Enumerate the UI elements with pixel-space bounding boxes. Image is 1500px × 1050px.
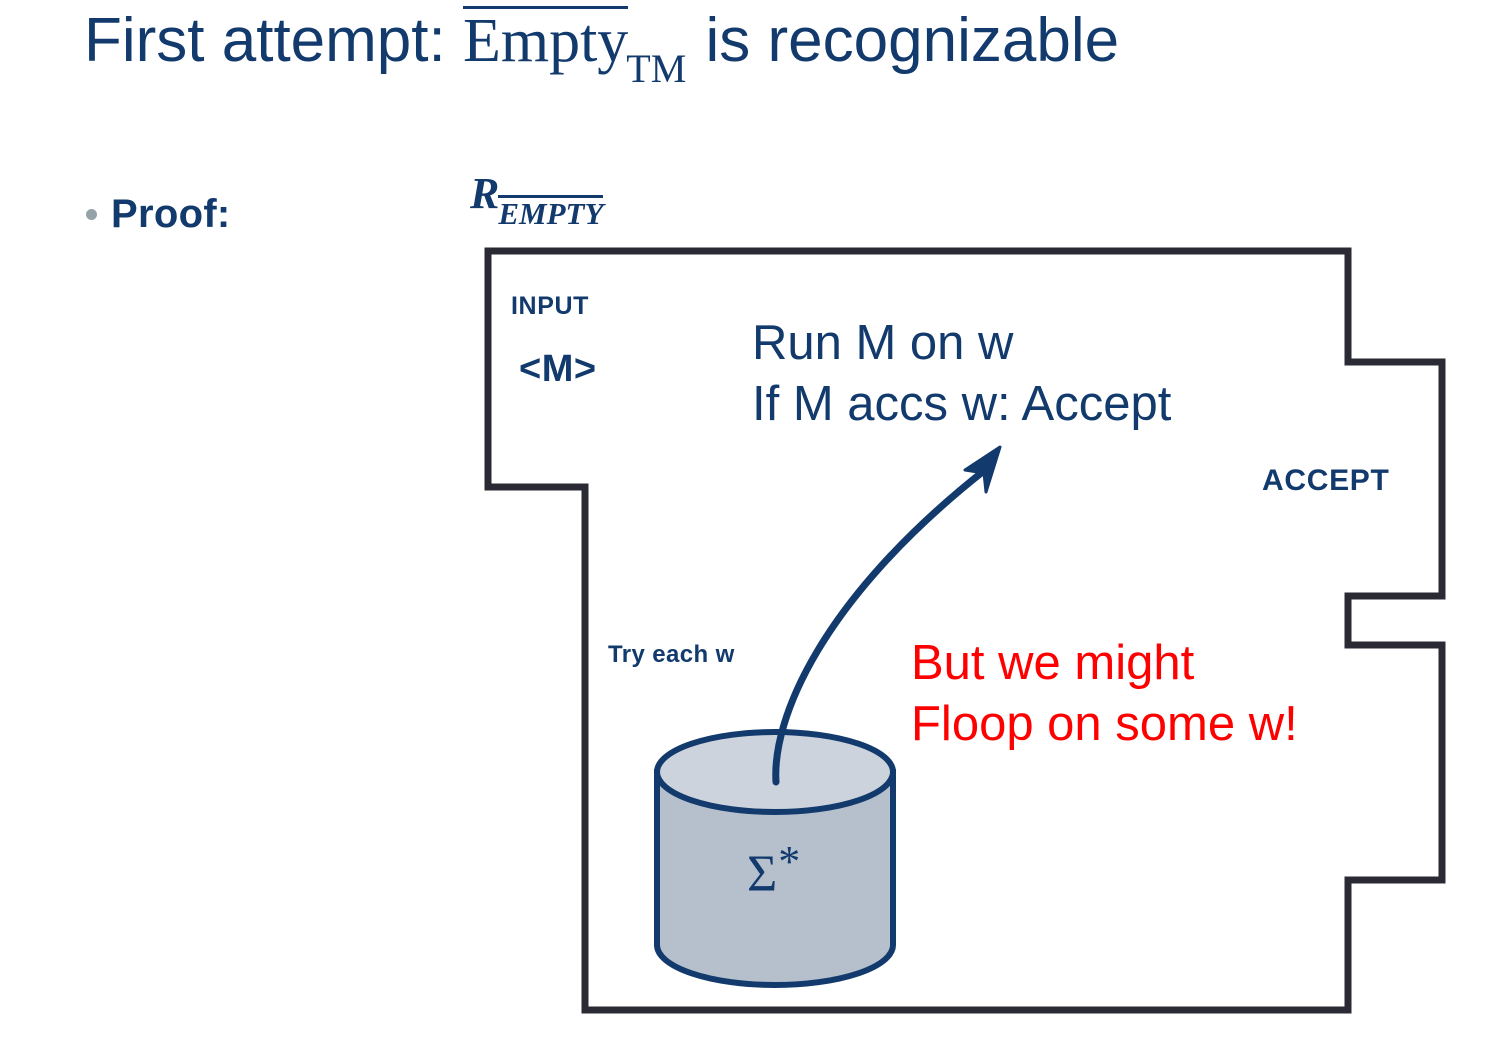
try-each-label: Try each w xyxy=(608,641,735,669)
accept-label: ACCEPT xyxy=(1262,464,1390,498)
program-text: Run M on w If M accs w: Accept xyxy=(752,313,1171,435)
warning-line-1: But we might xyxy=(911,633,1298,694)
input-value: <M> xyxy=(519,348,597,391)
warning-line-2: Floop on some w! xyxy=(911,694,1298,755)
cylinder-label-sigma: Σ xyxy=(747,845,777,902)
cylinder-label: Σ* xyxy=(747,832,799,903)
cylinder-label-star: * xyxy=(778,837,800,886)
input-label: INPUT xyxy=(511,292,589,321)
program-line-1: Run M on w xyxy=(752,313,1171,374)
slide-canvas: First attempt: EmptyTM is recognizable P… xyxy=(0,0,1500,1050)
program-line-2: If M accs w: Accept xyxy=(752,374,1171,435)
warning-text: But we might Floop on some w! xyxy=(911,633,1298,755)
